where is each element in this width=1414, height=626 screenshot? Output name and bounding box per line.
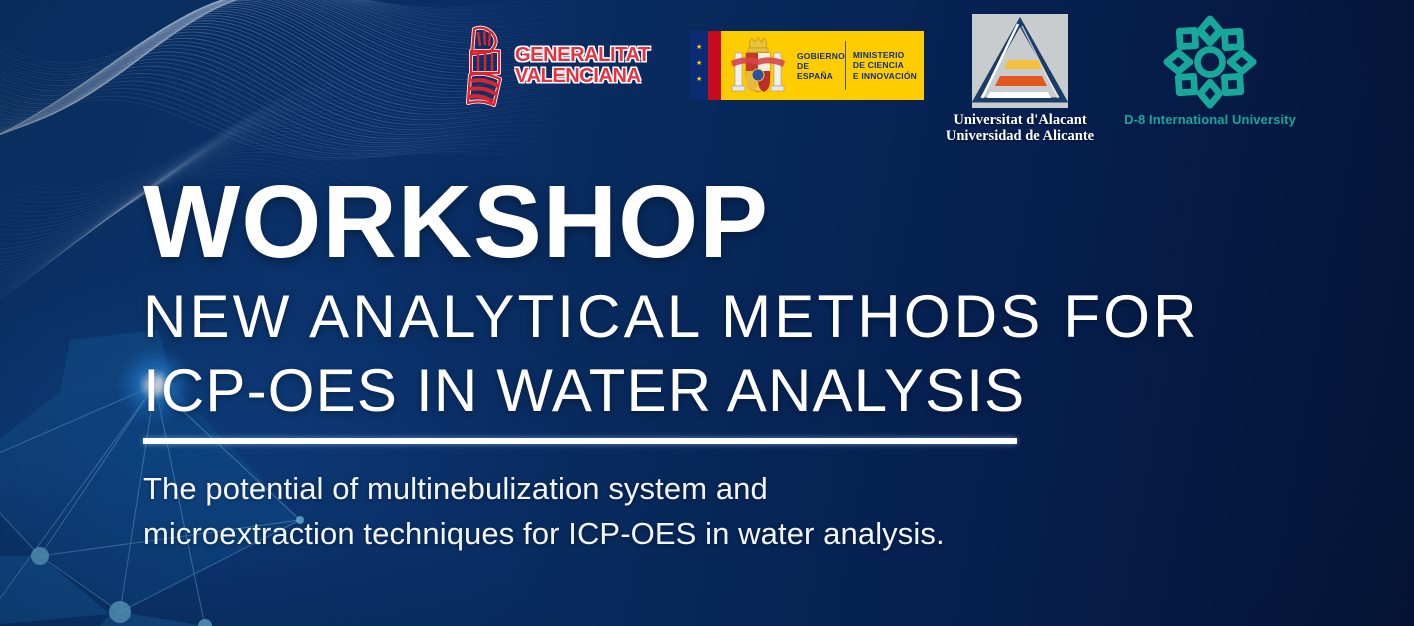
- headline-divider: [143, 438, 1017, 444]
- headline-line-2: NEW ANALYTICAL METHODS FOR: [143, 282, 1263, 352]
- page-title: WORKSHOP: [143, 170, 1263, 274]
- subtitle-line-1: The potential of multinebulization syste…: [143, 466, 1263, 511]
- spain-coat-of-arms-icon: [721, 31, 795, 100]
- logo-gobierno-espana[interactable]: ★ ★ ★: [690, 31, 924, 100]
- eu-flag-strip-icon: ★ ★ ★: [690, 31, 708, 100]
- logo-generalitat-valenciana[interactable]: GENERALITAT VALENCIANA: [462, 20, 672, 112]
- logo-d8-international-university[interactable]: D-8 International University: [1114, 14, 1306, 146]
- logo-gva-text: GENERALITAT VALENCIANA: [515, 45, 650, 87]
- headline-block: WORKSHOP NEW ANALYTICAL METHODS FOR ICP-…: [143, 170, 1263, 556]
- partner-logos: GENERALITAT VALENCIANA ★ ★ ★: [0, 0, 1414, 160]
- logo-ministerio-text: MINISTERIO DE CIENCIA E INNOVACIÓN: [846, 31, 924, 100]
- workshop-banner: GENERALITAT VALENCIANA ★ ★ ★: [0, 0, 1414, 626]
- d8-star-rosette-icon: [1162, 14, 1258, 110]
- logo-universitat-alacant[interactable]: Universitat d'Alacant Universidad de Ali…: [930, 14, 1110, 154]
- logo-gobierno-text: GOBIERNO DE ESPAÑA: [795, 31, 845, 100]
- alicante-pyramid-icon: [972, 14, 1068, 108]
- spain-flag-red-bar: [708, 31, 721, 100]
- generalitat-shield-icon: [462, 23, 508, 109]
- logo-divider: [845, 41, 846, 90]
- logo-ua-text: Universitat d'Alacant Universidad de Ali…: [930, 112, 1110, 144]
- subtitle-line-2: microextraction techniques for ICP-OES i…: [143, 511, 1263, 556]
- logo-d8-text: D-8 International University: [1114, 112, 1306, 127]
- headline-line-3: ICP-OES IN WATER ANALYSIS: [143, 358, 1263, 424]
- subtitle: The potential of multinebulization syste…: [143, 466, 1263, 556]
